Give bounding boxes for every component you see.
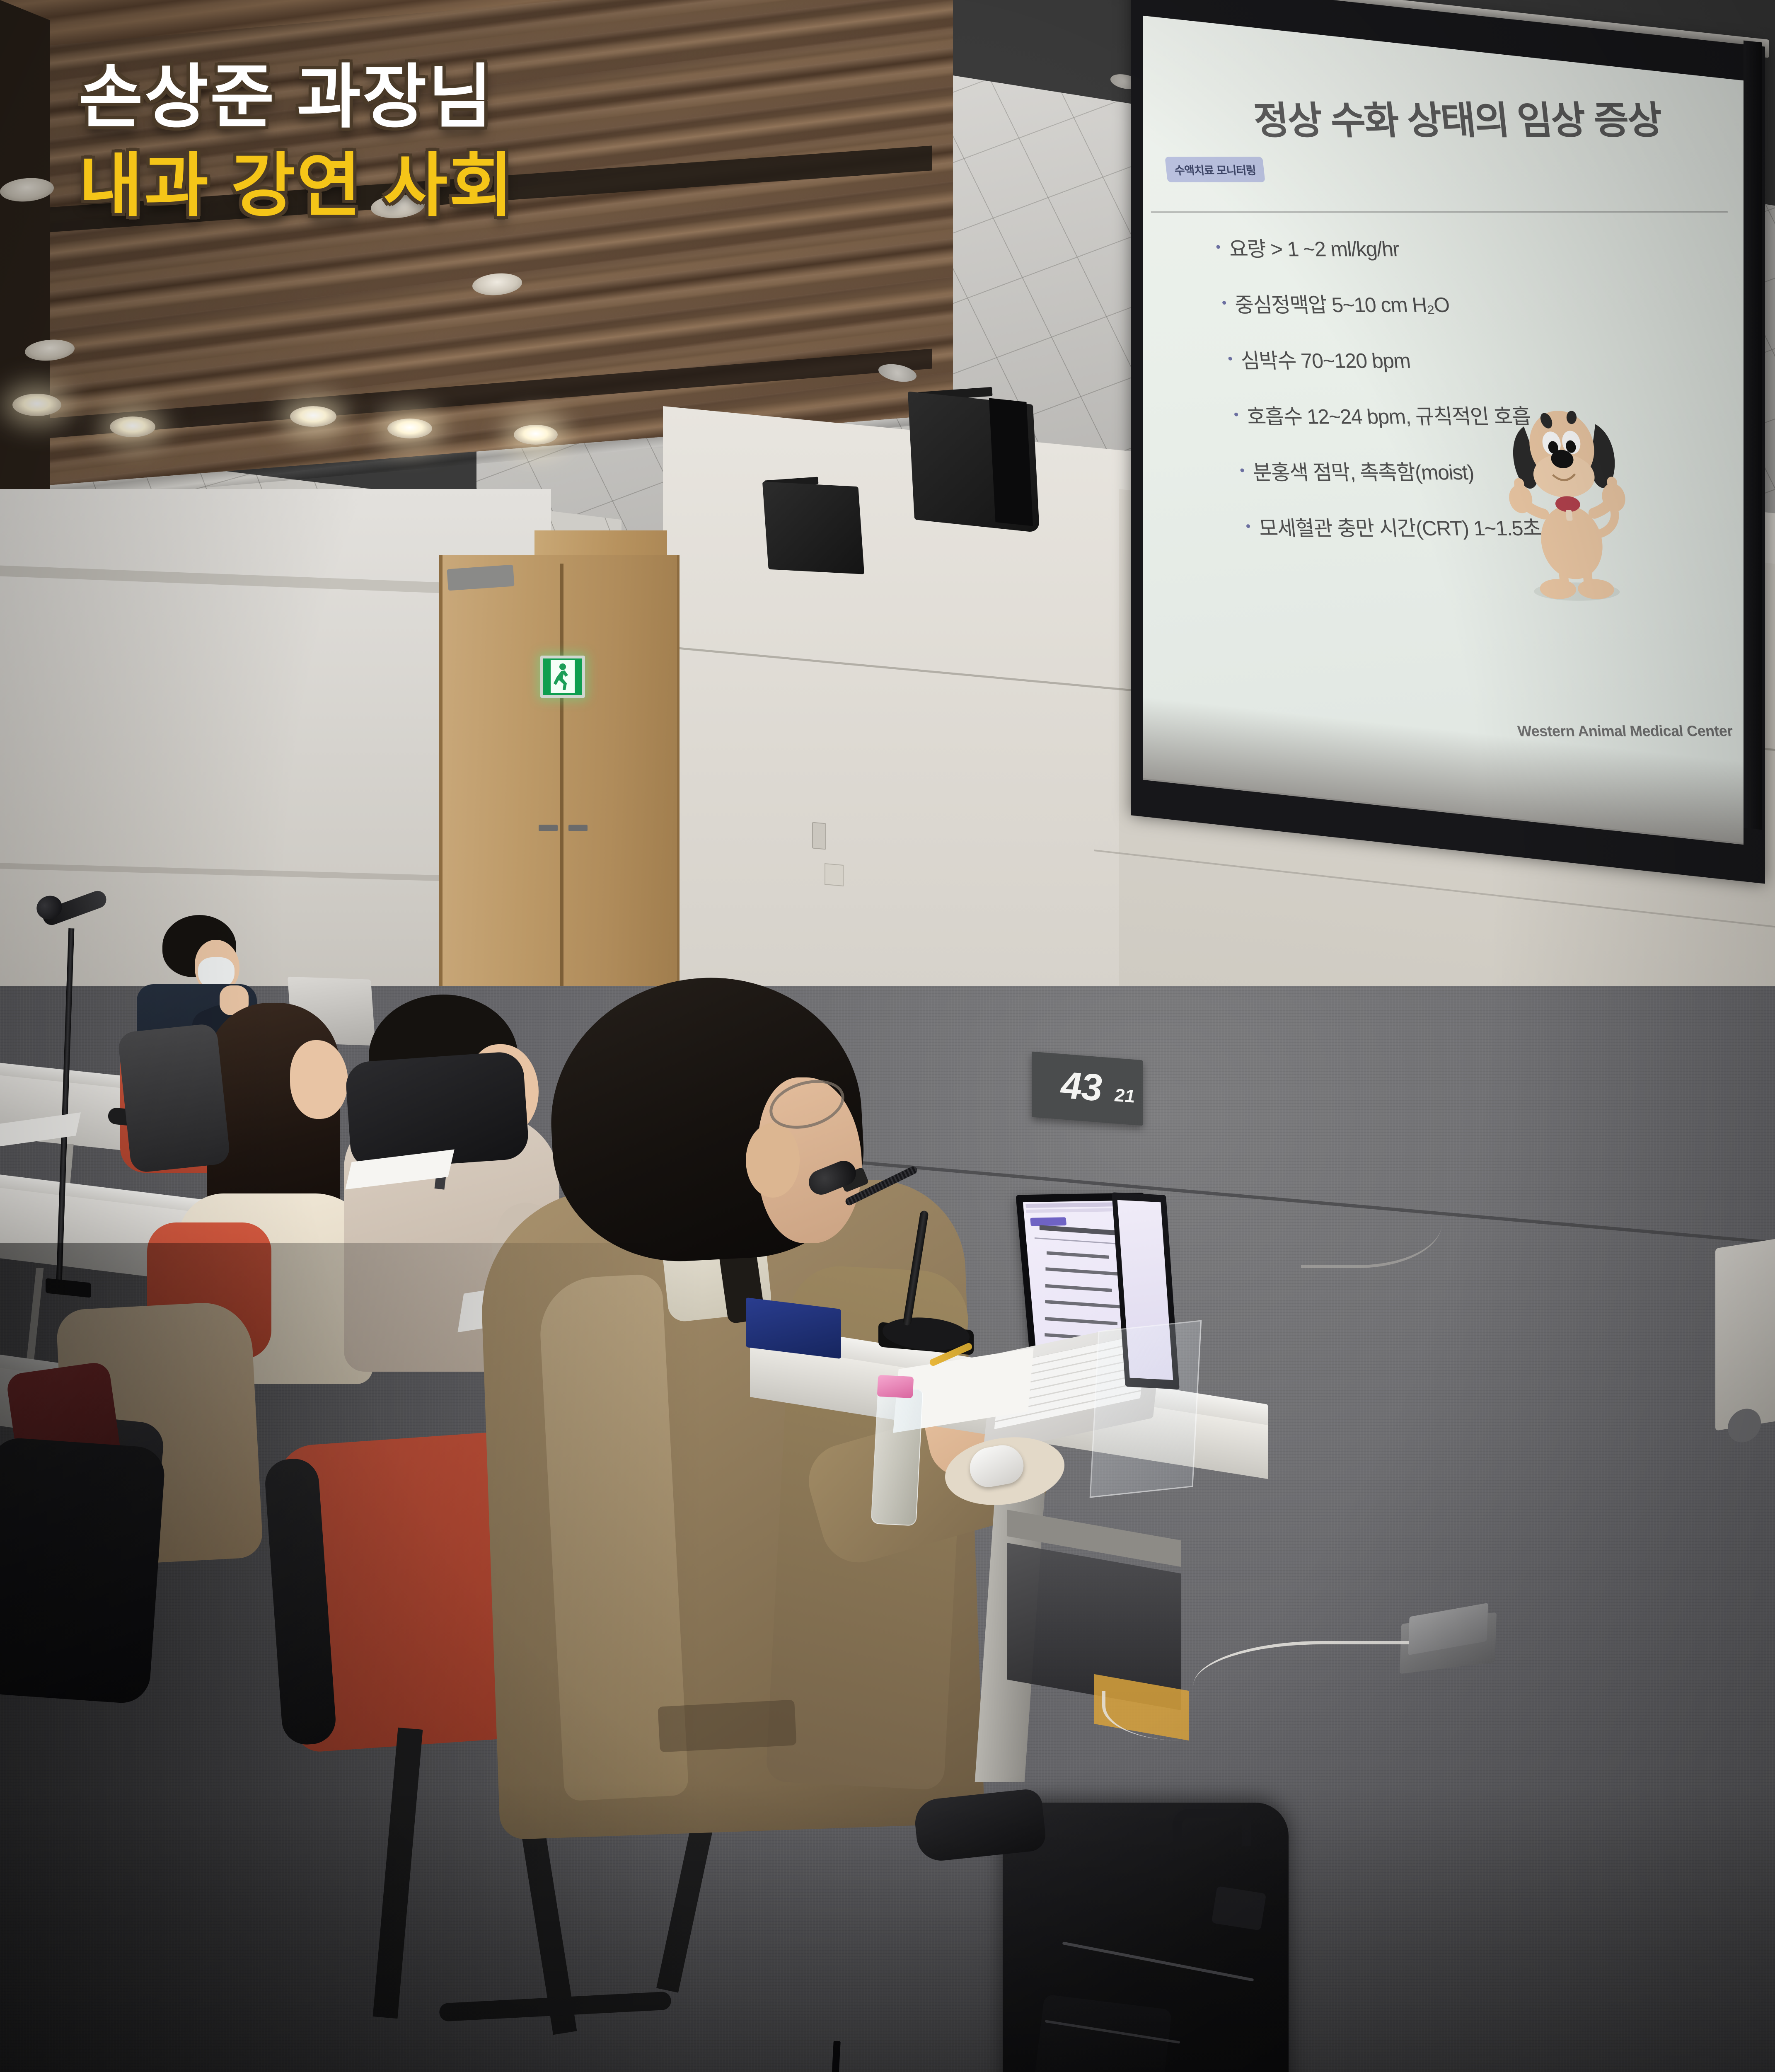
exit-running-man-icon bbox=[543, 658, 582, 695]
slide-bullet: 모세혈관 충만 시간(CRT) 1~1.5초 bbox=[1243, 511, 1732, 542]
jacket-on-chair-1 bbox=[117, 1023, 231, 1173]
overlay-title-line-1: 손상준 과장님 bbox=[79, 58, 990, 136]
downlight-1 bbox=[12, 394, 61, 416]
slide-title-divider bbox=[1151, 211, 1728, 213]
acrylic-stand bbox=[1090, 1320, 1202, 1498]
wall-utility-box bbox=[825, 863, 844, 886]
downlight-2 bbox=[110, 416, 155, 437]
lecture-hall-photo: 수액치료 모니터링 정상 수화 상태의 임상 증상 요량 > 1 ~2 ml/k… bbox=[0, 0, 1775, 2072]
cartoon-dog-mascot-icon bbox=[1489, 396, 1646, 605]
slide-bullet: 심박수 70~120 bpm bbox=[1225, 344, 1715, 374]
slide-bullet: 분홍색 점막, 촉촉함(moist) bbox=[1237, 455, 1727, 486]
wall-vent bbox=[812, 822, 826, 850]
slide-bullet: 중심정맥압 5~10 cm H₂O bbox=[1219, 288, 1708, 318]
floor-shadow-bottom bbox=[0, 1782, 1775, 2072]
title-overlay: 손상준 과장님 내과 강연 사회 bbox=[79, 58, 990, 225]
downlight-4 bbox=[387, 419, 432, 438]
speaker-right-side bbox=[989, 398, 1033, 526]
downlight-3 bbox=[290, 406, 336, 427]
speaker-left bbox=[762, 482, 864, 574]
moderator-ear bbox=[746, 1123, 800, 1198]
projection-screen: 수액치료 모니터링 정상 수화 상태의 임상 증상 요량 > 1 ~2 ml/k… bbox=[1131, 12, 1775, 874]
room-number: 43 bbox=[1061, 1063, 1101, 1110]
door-handle-left[interactable] bbox=[539, 825, 558, 831]
door-center-split bbox=[560, 564, 563, 1053]
projection-screen-right-edge bbox=[1744, 41, 1762, 830]
downlight-5 bbox=[514, 425, 558, 445]
right-panel bbox=[1715, 1238, 1775, 1431]
overlay-title-line-2: 내과 강연 사회 bbox=[79, 147, 990, 225]
water-bottle[interactable] bbox=[871, 1387, 923, 1526]
slide-footer-logo: Western Animal Medical Center bbox=[1517, 722, 1734, 740]
slide-bullet-list: 요량 > 1 ~2 ml/kg/hr 중심정맥압 5~10 cm H₂O 심박수… bbox=[1213, 232, 1735, 567]
emergency-exit-sign bbox=[540, 656, 585, 698]
door[interactable] bbox=[439, 555, 680, 1053]
water-bottle-cap[interactable] bbox=[877, 1375, 914, 1398]
slide-section-badge: 수액치료 모니터링 bbox=[1165, 157, 1265, 182]
slide-bullet: 요량 > 1 ~2 ml/kg/hr bbox=[1213, 232, 1702, 262]
slide-bullet: 호흡수 12~24 bpm, 규칙적인 호흡 bbox=[1231, 400, 1720, 430]
door-handle-right[interactable] bbox=[568, 825, 588, 831]
door-closer bbox=[447, 564, 514, 591]
slide-title: 정상 수화 상태의 임상 증상 bbox=[1251, 90, 1664, 145]
room-number-sub: 21 bbox=[1115, 1085, 1135, 1107]
